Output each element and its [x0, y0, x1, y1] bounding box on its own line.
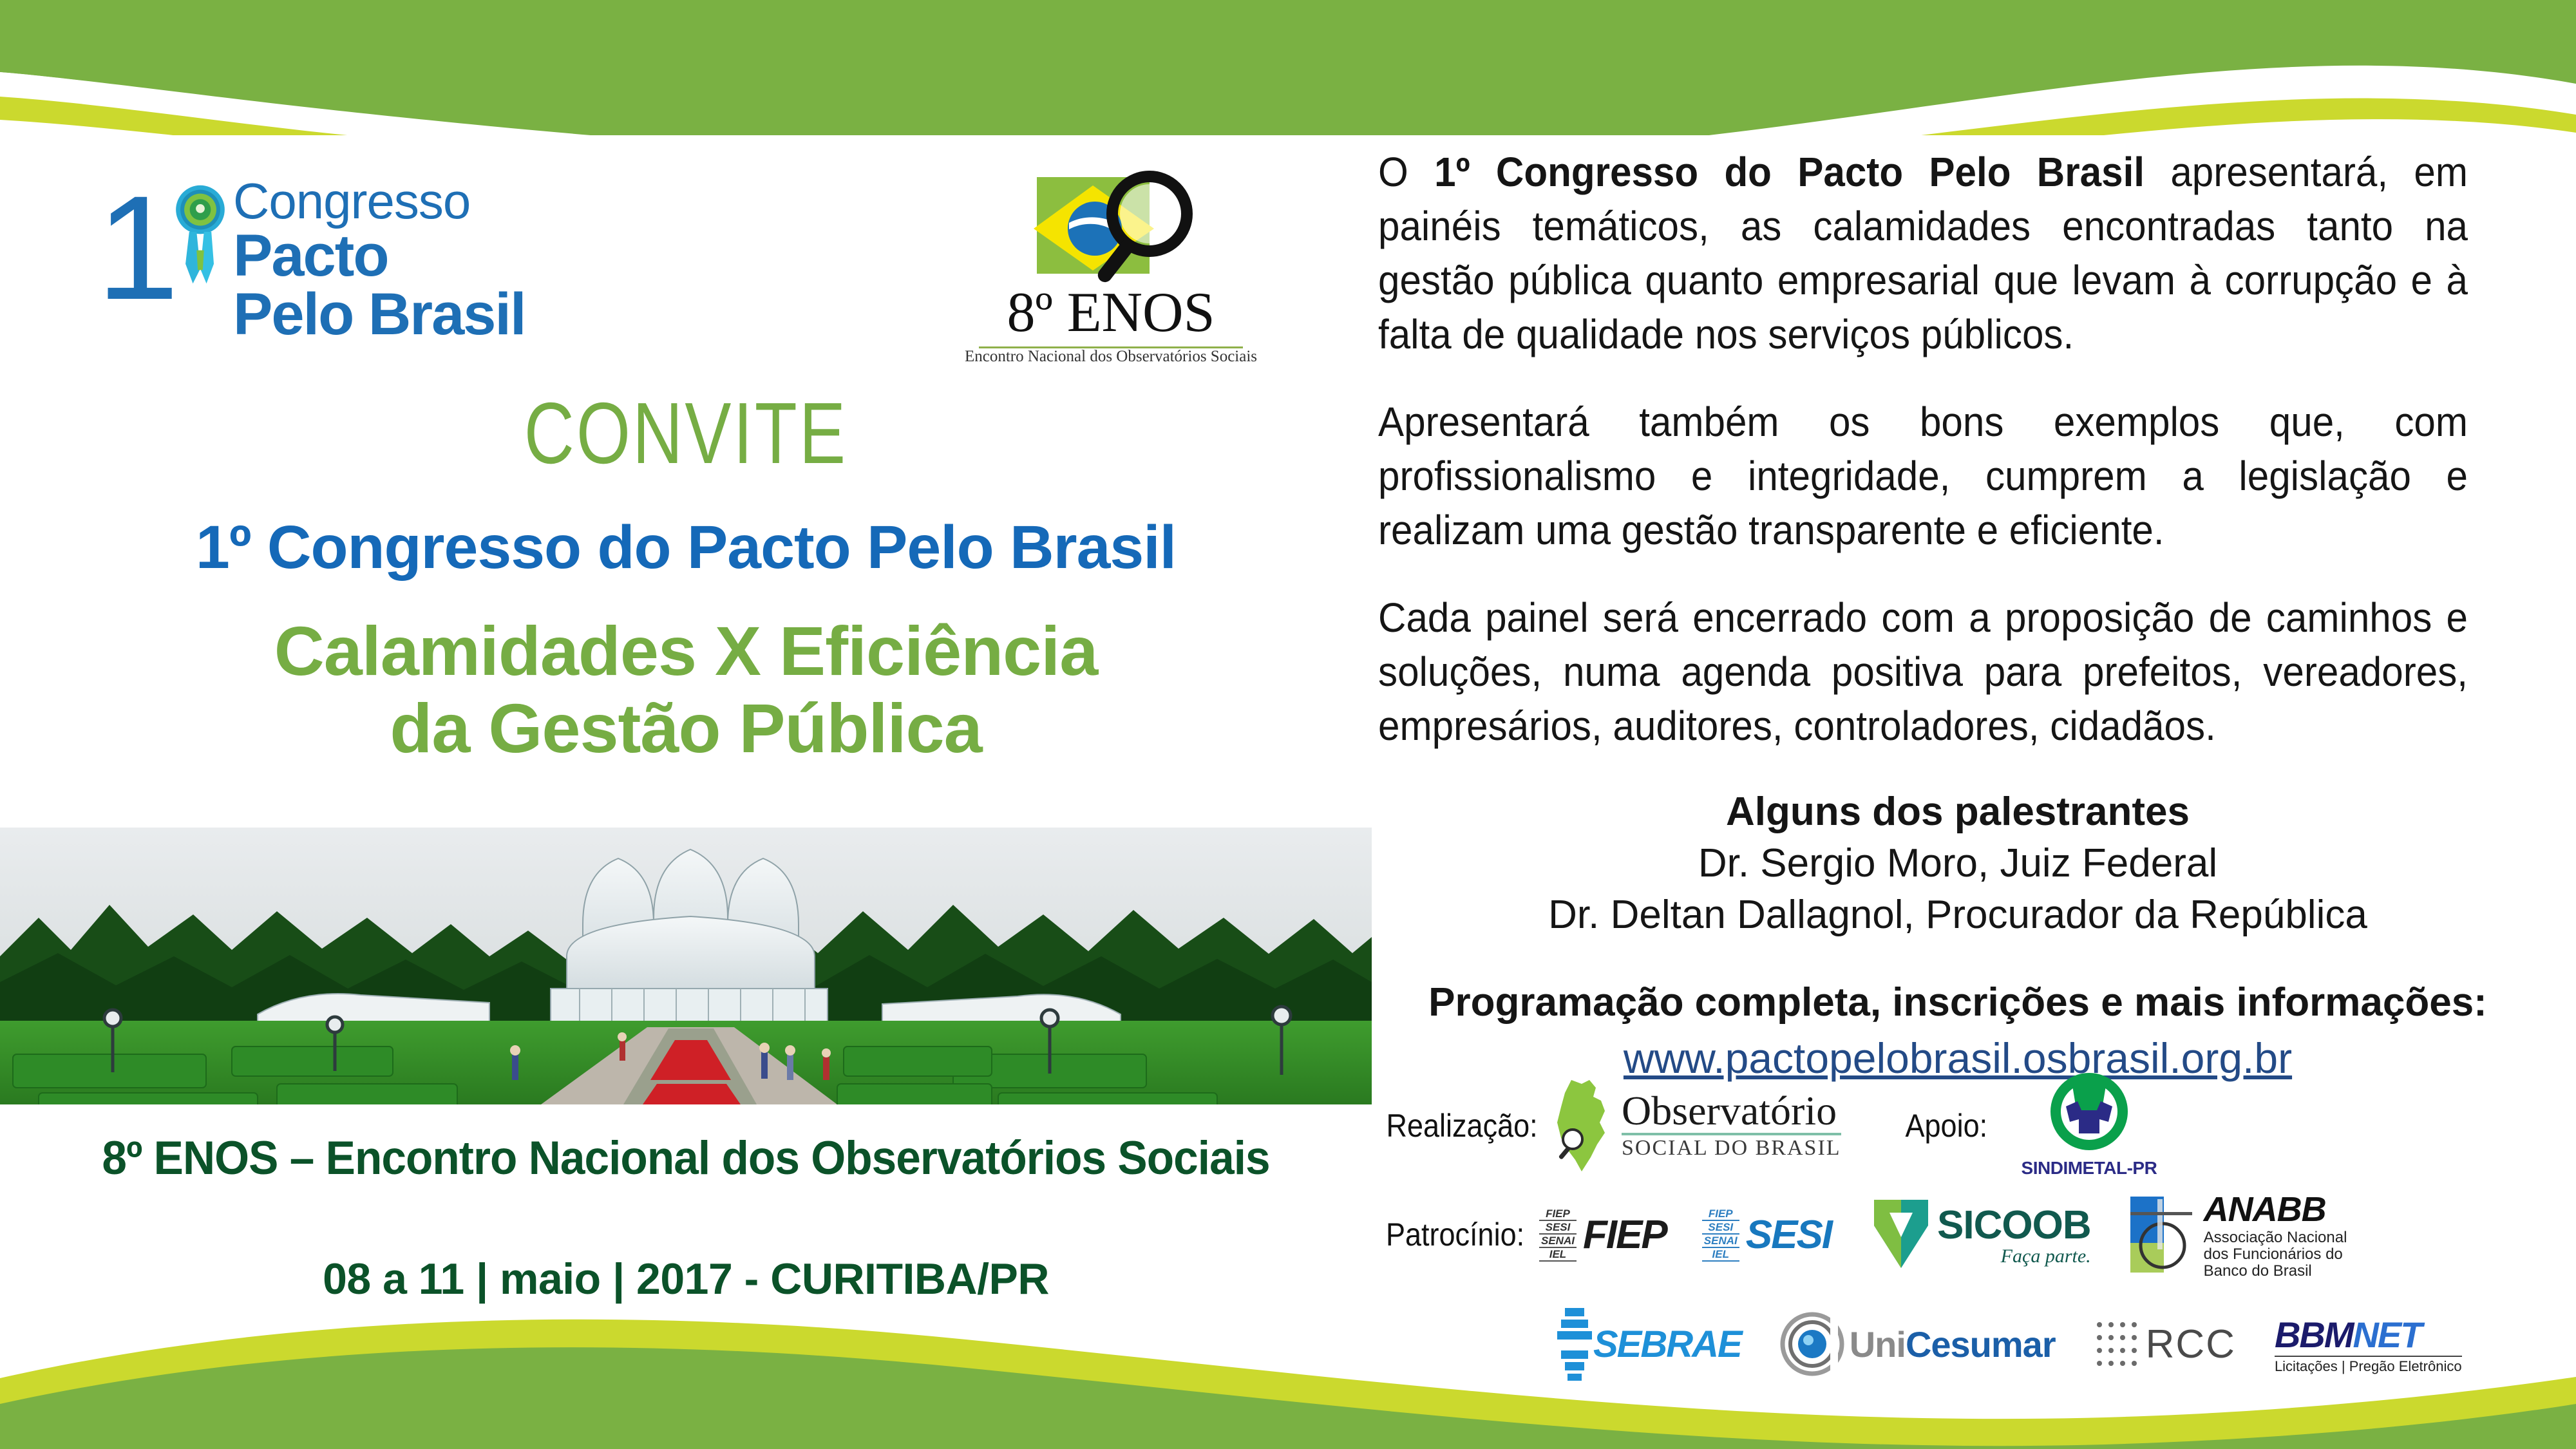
sesi-stack-item-4: IEL — [1702, 1248, 1739, 1262]
event-date-line: 08 a 11 | maio | 2017 - CURITIBA/PR — [0, 1256, 1372, 1302]
ribbon-tails-icon — [182, 232, 219, 287]
sindimetal-gear-icon — [2044, 1073, 2134, 1153]
speaker-item-2: Dr. Deltan Dallagnol, Procurador da Repú… — [1378, 889, 2537, 941]
left-column: 1 Congresso Pacto Pelo Brasil — [0, 122, 1372, 1346]
sesi-logo: FIEP SESI SENAI IEL SESI — [1702, 1207, 1832, 1262]
top-wave-decoration — [0, 0, 2576, 135]
sindimetal-logo: SINDIMETAL-PR — [2022, 1073, 2157, 1179]
curitiba-botanical-garden-photo — [0, 828, 1372, 1104]
anabb-logo: ANABB Associação Nacional dos Funcionári… — [2126, 1189, 2347, 1280]
sponsor-row-patrocinio: Patrocínio: FIEP SESI SENAI IEL FIEP FIE… — [1378, 1186, 2537, 1283]
pacto-line-3: Pelo Brasil — [233, 285, 526, 344]
fiep-system-stack: FIEP SESI SENAI IEL — [1539, 1207, 1577, 1262]
sesi-stack-item-3: SENAI — [1702, 1235, 1739, 1248]
enos-subtitle: Encontro Nacional dos Observatórios Soci… — [960, 348, 1262, 366]
pacto-pelo-brasil-logo: 1 Congresso Pacto Pelo Brasil — [97, 167, 586, 348]
anabb-sub-1: Associação Nacional — [2204, 1229, 2347, 1246]
sesi-system-stack: FIEP SESI SENAI IEL — [1702, 1207, 1739, 1262]
observatorio-social-logo: Observatório SOCIAL DO BRASIL — [1548, 1077, 1841, 1174]
speaker-item-1: Dr. Sergio Moro, Juiz Federal — [1378, 838, 2537, 889]
congress-title: 1º Congresso do Pacto Pelo Brasil — [0, 515, 1372, 580]
patrocinio-label: Patrocínio: — [1386, 1216, 1525, 1253]
anabb-sub-3: Banco do Brasil — [2204, 1263, 2347, 1280]
fiep-stack-item-3: SENAI — [1539, 1235, 1577, 1248]
sicoob-leaf-icon — [1870, 1196, 1932, 1273]
sindimetal-name: SINDIMETAL-PR — [2022, 1158, 2157, 1179]
anabb-building-icon — [2126, 1193, 2197, 1276]
sesi-stack-item-1: FIEP — [1702, 1207, 1739, 1221]
realizacao-label: Realização: — [1387, 1107, 1531, 1144]
fiep-wordmark: FIEP — [1583, 1212, 1667, 1258]
paragraph-2: Apresentará também os bons exemplos que,… — [1378, 395, 2468, 557]
sponsor-row-realizacao: Realização: Observatório SOCIAL DO BRASI… — [1378, 1069, 2537, 1182]
anabb-wordmark: ANABB Associação Nacional dos Funcionári… — [2204, 1189, 2347, 1280]
fiep-stack-item-4: IEL — [1539, 1248, 1577, 1262]
convite-heading: CONVITE — [137, 390, 1235, 477]
pacto-line-1: Congresso — [233, 175, 526, 227]
paragraph-3: Cada painel será encerrado com a proposi… — [1378, 591, 2468, 753]
paragraph-1: O 1º Congresso do Pacto Pelo Brasil apre… — [1378, 145, 2468, 361]
enos-wordmark: 8º ENOS — [960, 283, 1262, 343]
flyer-canvas: 1 Congresso Pacto Pelo Brasil — [0, 0, 2576, 1449]
info-heading: Programação completa, inscrições e mais … — [1378, 977, 2537, 1028]
paragraph-1-emphasis: 1º Congresso do Pacto Pelo Brasil — [1434, 149, 2145, 195]
fiep-stack-item-1: FIEP — [1539, 1207, 1577, 1221]
logo-row: 1 Congresso Pacto Pelo Brasil — [0, 142, 1372, 335]
paragraph-1-lead: O — [1378, 149, 1434, 195]
fiep-stack-item-2: SESI — [1539, 1221, 1577, 1235]
brazil-flag-magnifier-icon — [1018, 167, 1204, 290]
theme-line-1: Calamidades X Eficiência — [0, 615, 1372, 687]
sicoob-tagline: Faça parte. — [1932, 1245, 2091, 1267]
enos-event-line: 8º ENOS – Encontro Nacional dos Observat… — [34, 1133, 1338, 1184]
pacto-ordinal-numeral: 1 — [97, 174, 179, 322]
sicoob-wordmark: SICOOB — [1937, 1202, 2091, 1248]
anabb-name: ANABB — [2204, 1189, 2347, 1229]
sesi-stack-item-2: SESI — [1702, 1221, 1739, 1235]
speakers-block: Alguns dos palestrantes Dr. Sergio Moro,… — [1378, 786, 2537, 941]
pacto-line-2: Pacto — [233, 227, 526, 285]
apoio-label: Apoio: — [1905, 1107, 2015, 1144]
enos-logo: 8º ENOS Encontro Nacional dos Observatór… — [960, 167, 1262, 361]
anabb-sub-2: dos Funcionários do — [2204, 1246, 2347, 1263]
sicoob-logo: SICOOB Faça parte. — [1870, 1196, 2091, 1273]
brazil-map-magnifier-icon — [1548, 1077, 1618, 1174]
fiep-logo: FIEP SESI SENAI IEL FIEP — [1539, 1207, 1667, 1262]
pacto-wordmark: Congresso Pacto Pelo Brasil — [233, 175, 526, 344]
sesi-wordmark: SESI — [1746, 1212, 1832, 1258]
bottom-wave-decoration — [0, 1301, 2576, 1449]
observatorio-name: Observatório — [1622, 1092, 1841, 1130]
theme-line-2: da Gestão Pública — [0, 692, 1372, 764]
observatorio-wordmark: Observatório SOCIAL DO BRASIL — [1622, 1092, 1841, 1160]
observatorio-sub: SOCIAL DO BRASIL — [1622, 1137, 1841, 1160]
speakers-heading: Alguns dos palestrantes — [1378, 786, 2537, 838]
